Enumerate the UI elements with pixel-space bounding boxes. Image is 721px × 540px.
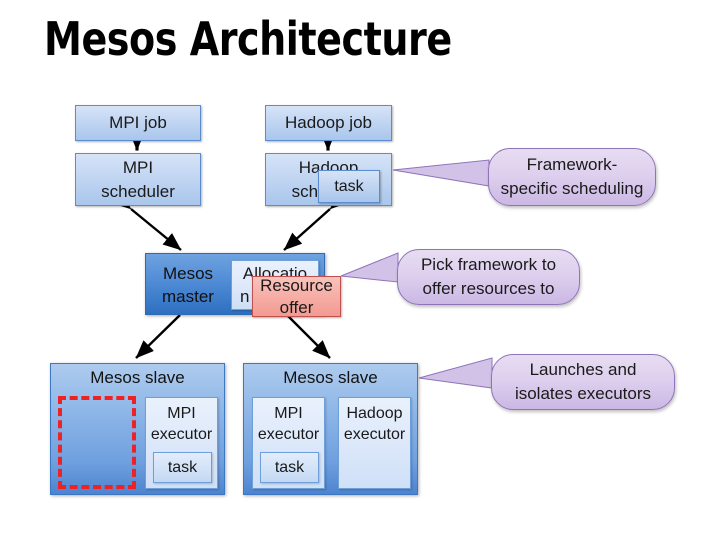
mesos-slave-left-executor-0-task-label: task [168,458,197,477]
callout-pick-framework-line2: offer resources to [423,277,555,301]
hadoop-job-box[interactable]: Hadoop job [265,105,392,141]
hadoop-scheduler-task-box[interactable]: task [318,170,380,203]
mesos-slave-left-executor-0-line2: executor [146,424,217,445]
callout-framework-line2: specific scheduling [501,177,644,201]
mesos-slave-right-title: Mesos slave [244,368,417,388]
mesos-slave-right-executor-0-task-label: task [275,458,304,477]
callout-tail-framework [393,160,489,186]
resource-offer-label-line1: Resource [260,275,333,297]
mesos-slave-right-executor-0-line2: executor [253,424,324,445]
mesos-slave-left-executor-0[interactable]: MPI executor task [145,397,218,489]
mesos-slave-right-executor-1-line1: Hadoop [339,403,410,424]
mesos-slave-left-executor-0-line1: MPI [146,403,217,424]
mpi-job-label: MPI job [109,112,167,134]
mpi-scheduler-label-line2: scheduler [101,180,175,204]
callout-launches-line1: Launches and [530,358,637,382]
hadoop-scheduler-task-label: task [334,176,363,198]
mesos-slave-right-executor-0-task[interactable]: task [260,452,319,483]
mesos-slave-right-executor-1-line2: executor [339,424,410,445]
mesos-slave-right-executor-0-line1: MPI [253,403,324,424]
hadoop-job-label: Hadoop job [285,112,372,134]
callout-pick-framework-line1: Pick framework to [421,253,556,277]
mpi-scheduler-box[interactable]: MPI scheduler [75,153,201,206]
mesos-master-label: Mesos master [146,254,230,316]
callout-pick-framework[interactable]: Pick framework to offer resources to [397,249,580,305]
callout-tail-launches [419,358,492,388]
resource-offer-label-line2: offer [280,297,314,319]
mesos-slave-right-executor-0[interactable]: MPI executor task [252,397,325,489]
mesos-master-label-line2: master [162,285,214,308]
callout-launches-isolates[interactable]: Launches and isolates executors [491,354,675,410]
mpi-job-box[interactable]: MPI job [75,105,201,141]
callout-tail-pick-framework [341,253,398,282]
resource-offer-box[interactable]: Resource offer [252,276,341,317]
callout-framework-specific-scheduling[interactable]: Framework- specific scheduling [488,148,656,206]
callout-framework-line1: Framework- [527,153,618,177]
mesos-slave-left-box[interactable]: Mesos slave MPI executor task [50,363,225,495]
mesos-master-label-line1: Mesos [163,262,213,285]
mesos-slave-left-title: Mesos slave [51,368,224,388]
mesos-slave-right-executor-1[interactable]: Hadoop executor [338,397,411,489]
mesos-slave-left-executor-0-task[interactable]: task [153,452,212,483]
callout-launches-line2: isolates executors [515,382,651,406]
mpi-scheduler-label-line1: MPI [123,156,153,180]
slide-canvas: Mesos Architecture [0,0,721,540]
mesos-slave-right-box[interactable]: Mesos slave MPI executor task Hadoop exe… [243,363,418,495]
mesos-slave-left-empty-slot [58,396,136,489]
